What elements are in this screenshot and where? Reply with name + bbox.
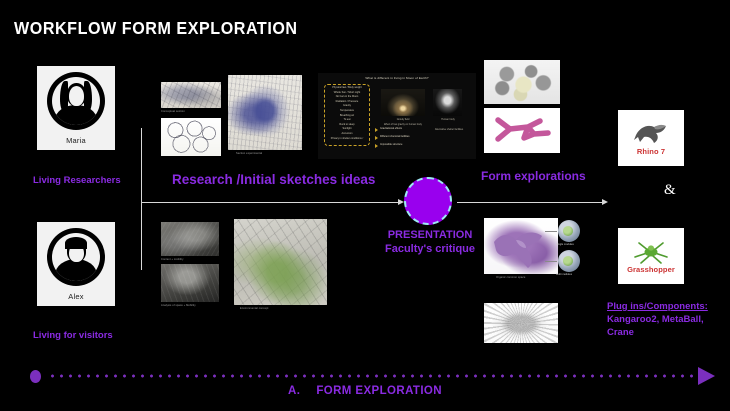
plugins-items: Kangaroo2, MetaBall, Crane <box>607 313 727 339</box>
diagram-list-item: No fuel on the Moon <box>336 95 359 98</box>
timeline-start-dot <box>30 370 41 383</box>
diagram-list-item: Privacy in shelter conditions / <box>331 137 363 140</box>
presentation-label: PRESENTATION Faculty's critique <box>370 228 490 256</box>
diagram-thumb-caption: Human body <box>430 118 466 121</box>
workflow-arrow-2 <box>457 202 603 203</box>
persona-caption-maria: Living Researchers <box>33 175 121 186</box>
persona-caption-alex: Living for visitors <box>33 330 113 341</box>
diagram-title: What is different in living in Moon of E… <box>318 76 476 80</box>
diagram-row: Impossible structure <box>380 143 402 146</box>
module-thumb-single <box>558 220 580 242</box>
sketch-section-experimental <box>228 75 302 150</box>
slide-canvas: WORKFLOW FORM EXPLORATION Maria Living R… <box>0 0 730 411</box>
plugins-heading: Plug ins/Components: <box>607 300 727 313</box>
research-info-diagram: What is different in living in Moon of E… <box>318 73 476 159</box>
software-card-grasshopper: Grasshopper <box>618 228 684 284</box>
sketch-caption: Conceptual section <box>161 110 185 113</box>
module-thumb-multi <box>558 250 580 272</box>
diagram-list-item: Whole Sun / Short night <box>334 91 360 94</box>
persona-connector-top <box>141 128 142 204</box>
render-caption: Organic common space <box>496 276 525 279</box>
pink-form-shape-icon <box>484 108 560 153</box>
diagram-sub-caption: Effect of low gravity on human body <box>378 123 428 126</box>
render-pink-branching-form <box>484 108 560 153</box>
plugins-block: Plug ins/Components: Kangaroo2, MetaBall… <box>607 300 727 339</box>
diagram-list-item: Rock to sleep <box>339 123 354 126</box>
diagram-row: Different chemical facilities <box>380 135 410 138</box>
sketch-caption: Context + mobility <box>161 258 184 261</box>
rhino-logo-icon <box>628 121 674 147</box>
persona-card-maria: Maria <box>37 66 115 150</box>
grasshopper-logo-icon <box>629 239 673 265</box>
render-mesh-form <box>484 303 558 343</box>
diagram-list-item: Sunlight <box>342 127 351 130</box>
sketch-module-cluster <box>161 118 221 156</box>
diagram-list-item: To eat <box>344 118 351 121</box>
sketch-caption: Section experimental <box>236 152 262 155</box>
diagram-arrow-icon <box>375 144 378 148</box>
persona-card-alex: Alex <box>37 222 115 306</box>
workflow-arrow-2-head <box>602 199 608 205</box>
render-organic-common-space <box>484 218 558 274</box>
sketch-analysis-space <box>161 264 219 302</box>
timeline-dotted-line <box>48 374 698 378</box>
timeline-label: A.FORM EXPLORATION <box>0 385 730 397</box>
sketch-caption: Environmental concept <box>240 307 268 310</box>
module-caption: Multi modules <box>556 273 572 276</box>
timeline-arrow-icon <box>698 367 715 385</box>
female-avatar-icon <box>47 72 105 130</box>
male-avatar-icon <box>47 228 105 286</box>
software-label: Grasshopper <box>627 265 675 274</box>
diagram-list-item: Accustom <box>342 132 353 135</box>
presentation-node[interactable] <box>404 177 452 225</box>
stage-label-form-explorations: Form explorations <box>481 169 586 183</box>
presentation-subtitle: Faculty's critique <box>370 242 490 256</box>
module-leader-line <box>545 231 557 232</box>
diagram-list: Physical law / Body weight Whole Sun / S… <box>325 86 369 140</box>
diagram-thumb-caption: Gravity field <box>381 118 425 121</box>
persona-name: Maria <box>66 130 86 150</box>
software-label: Rhino 7 <box>637 147 665 156</box>
presentation-title: PRESENTATION <box>370 228 490 242</box>
timeline-title: FORM EXPLORATION <box>316 385 442 397</box>
persona-connector-bottom <box>141 204 142 270</box>
page-title: WORKFLOW FORM EXPLORATION <box>14 18 298 39</box>
diagram-thumb-gravity <box>381 89 425 116</box>
diagram-thumb-human <box>433 89 462 116</box>
persona-name: Alex <box>68 286 83 306</box>
diagram-list-item: Gravity <box>343 104 351 107</box>
software-card-rhino: Rhino 7 <box>618 110 684 166</box>
organic-form-shape-icon <box>484 218 558 274</box>
diagram-row: Gravitational effects <box>380 127 402 130</box>
stage-label-research: Research /Initial sketches ideas <box>172 172 375 187</box>
module-caption: Single modules <box>556 243 574 246</box>
diagram-list-item: Physical law / Body weight <box>332 86 361 89</box>
workflow-arrow-1 <box>141 202 399 203</box>
diagram-list-item: Breathing air <box>340 114 354 117</box>
module-leader-line <box>545 261 557 262</box>
timeline-number: A. <box>288 385 300 397</box>
sketch-conceptual-section <box>161 82 221 108</box>
render-gray-blobs <box>484 60 560 104</box>
diagram-sub-caption: Alternative shelter facilities <box>426 128 472 131</box>
sketch-environmental-concept <box>234 219 327 305</box>
ampersand-symbol: & <box>664 182 676 199</box>
diagram-arrow-icon <box>375 136 378 140</box>
diagram-list-item: Radiation / Pressure <box>336 100 359 103</box>
diagram-list-item: Temperature <box>340 109 354 112</box>
diagram-arrow-icon <box>375 128 378 132</box>
sketch-context-mobility <box>161 222 219 256</box>
sketch-caption: Analysis of space + Mobility <box>161 304 196 307</box>
